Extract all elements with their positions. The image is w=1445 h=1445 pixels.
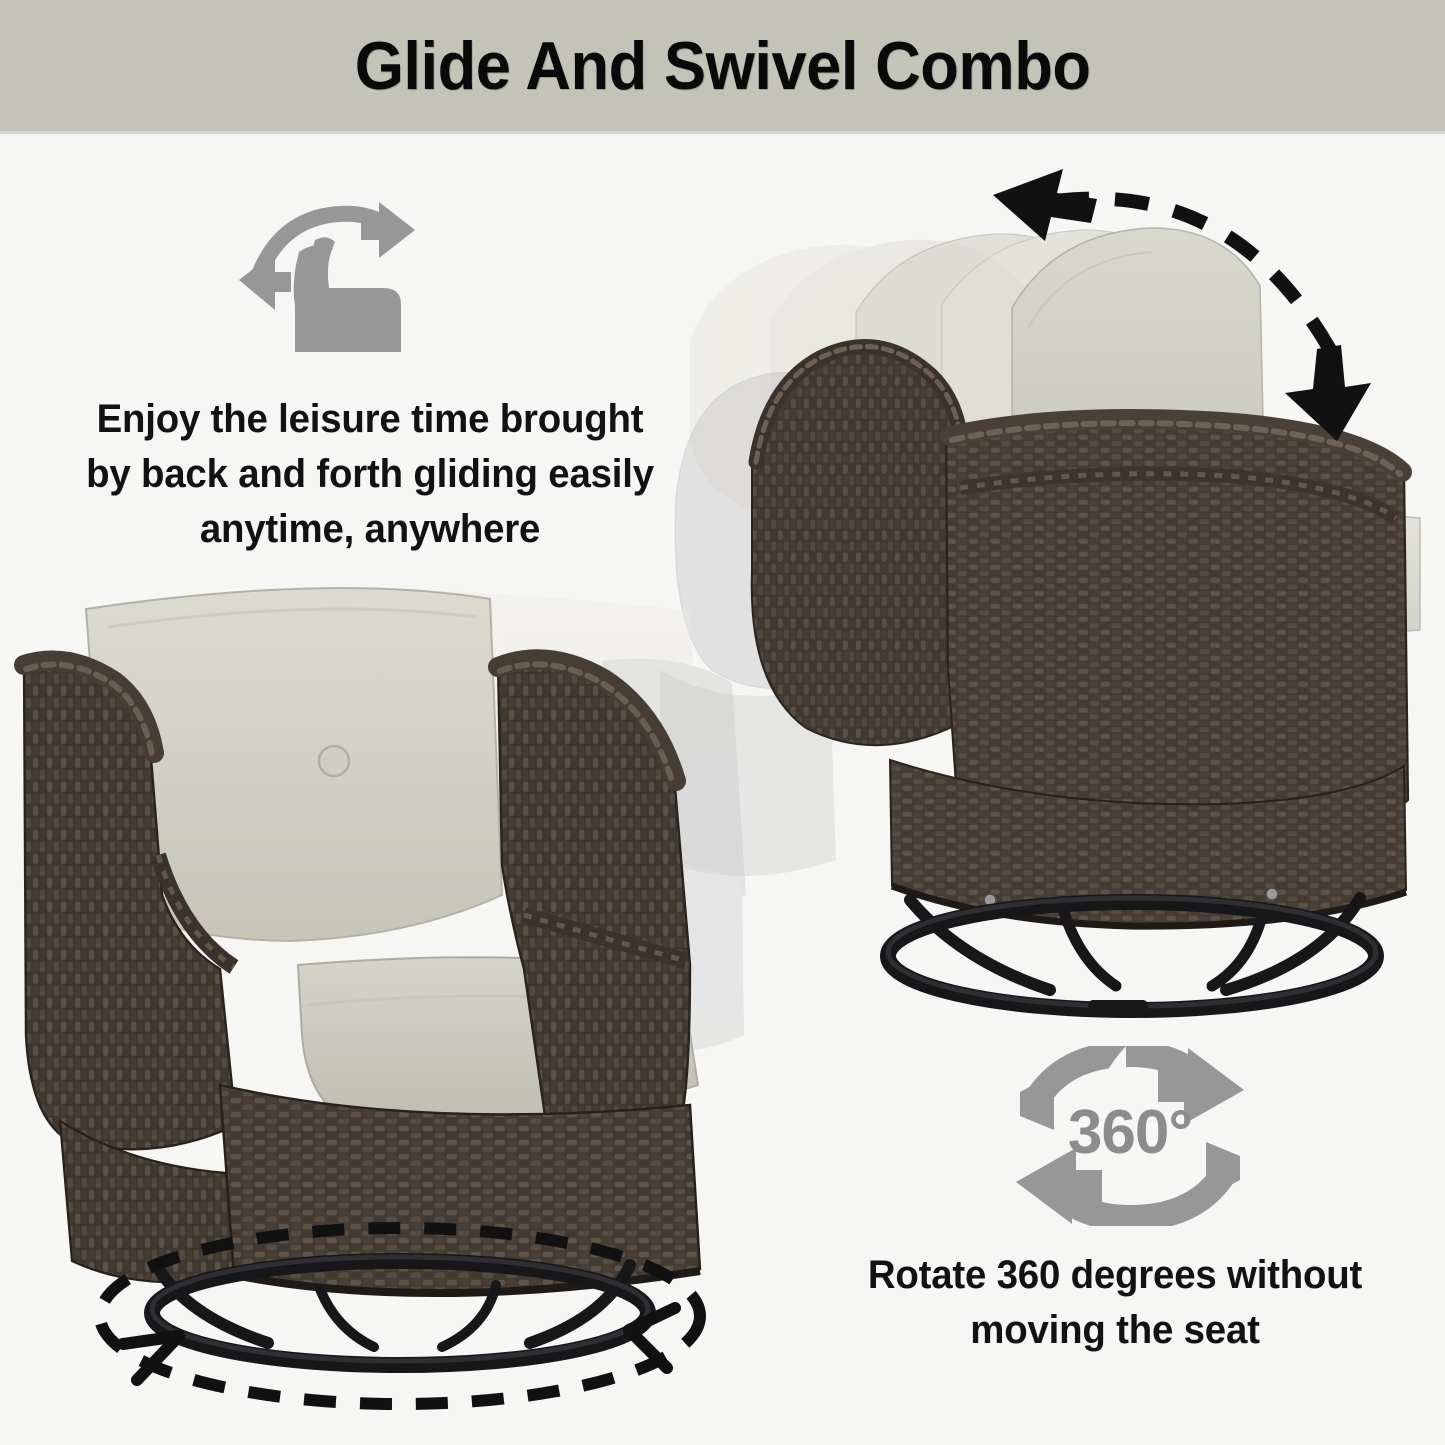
glide-caption-line-1: Enjoy the leisure time brought: [44, 392, 697, 447]
swivel-caption: Rotate 360 degrees without moving the se…: [813, 1248, 1418, 1358]
rotate-degrees-label: 360°: [1008, 1102, 1252, 1164]
360-rotation-icon: 360°: [1008, 1046, 1252, 1226]
arrow-left-head: [123, 1336, 179, 1380]
glide-arc-dashes: [1055, 199, 1333, 355]
arrow-right-head: [629, 1308, 675, 1368]
swivel-ellipse-dashes: [100, 1228, 700, 1404]
glide-arc-annotation: [985, 165, 1405, 495]
base-screw: [1266, 888, 1278, 900]
glide-caption: Enjoy the leisure time brought by back a…: [44, 392, 697, 558]
arrow-down-head: [1285, 345, 1371, 441]
glide-caption-line-3: anytime, anywhere: [44, 502, 697, 557]
tufted-button: [319, 746, 349, 776]
swivel-ellipse-annotation: [75, 1218, 725, 1423]
arrow-left-head: [993, 169, 1097, 241]
swivel-caption-line-1: Rotate 360 degrees without: [813, 1248, 1418, 1303]
chair-body-silhouette: [294, 245, 401, 352]
glide-arrow-left-head: [239, 252, 291, 310]
product-illustration-stage: [0, 0, 1445, 1445]
infographic-page: Glide And Swivel Combo: [0, 0, 1445, 1445]
swivel-caption-line-2: moving the seat: [813, 1303, 1418, 1358]
glide-rocking-chair-icon: [233, 196, 433, 362]
chair-back-frame: [752, 348, 966, 745]
glide-caption-line-2: by back and forth gliding easily: [44, 447, 697, 502]
